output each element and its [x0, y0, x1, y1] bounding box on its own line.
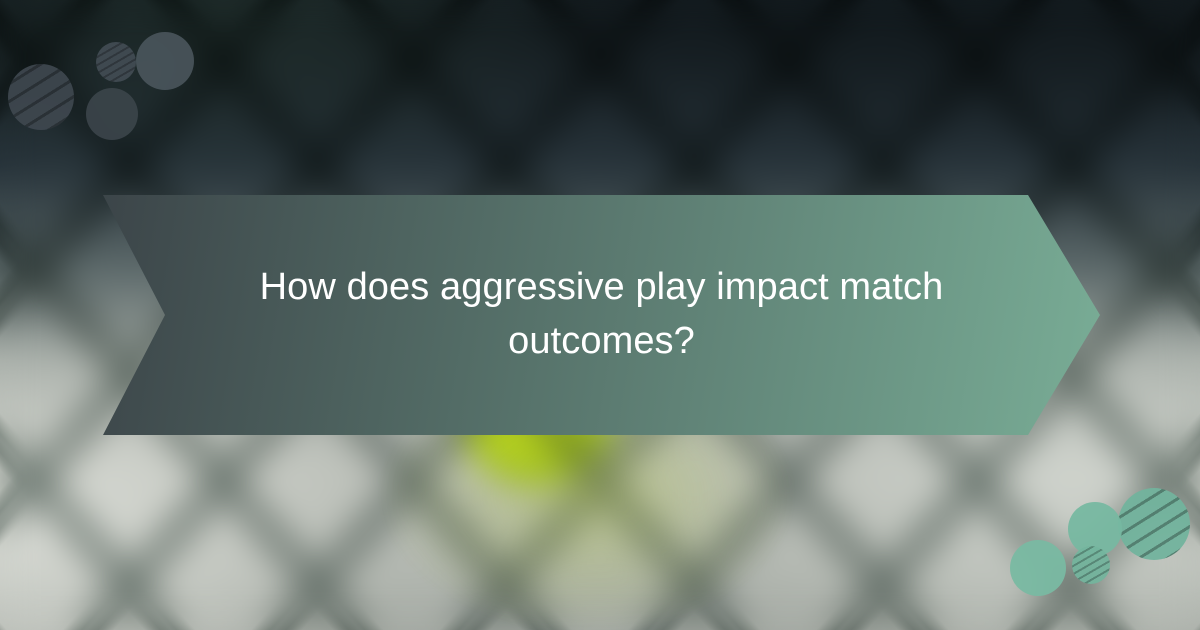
- deco-circle-br-3: [1072, 546, 1110, 584]
- deco-circle-br-4: [1010, 540, 1066, 596]
- deco-circle-tl-2: [96, 42, 136, 82]
- page-title: How does aggressive play impact match ou…: [253, 261, 950, 369]
- deco-circle-tl-1: [8, 64, 74, 130]
- deco-circle-tl-3: [136, 32, 194, 90]
- deco-circle-br-1: [1118, 488, 1190, 560]
- title-banner: How does aggressive play impact match ou…: [103, 195, 1100, 435]
- deco-circle-tl-4: [86, 88, 138, 140]
- social-card: How does aggressive play impact match ou…: [0, 0, 1200, 630]
